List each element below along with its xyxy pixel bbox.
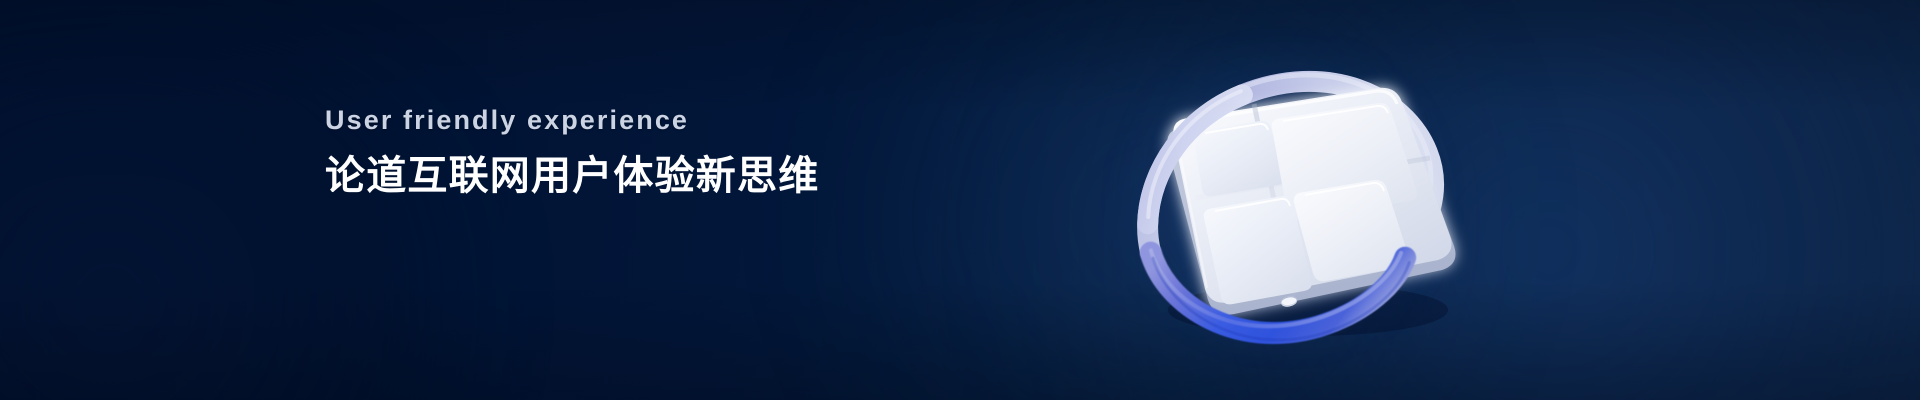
grid-tile-orbit-svg <box>1078 48 1498 348</box>
hero-headline: 论道互联网用户体验新思维 <box>325 152 945 200</box>
hero-text-block: User friendly experience 论道互联网用户体验新思维 <box>325 104 945 200</box>
hero-banner: User friendly experience 论道互联网用户体验新思维 <box>0 0 1920 400</box>
hero-illustration <box>1078 48 1498 348</box>
background-vignette <box>0 0 1920 400</box>
hero-eyebrow: User friendly experience <box>325 104 945 138</box>
